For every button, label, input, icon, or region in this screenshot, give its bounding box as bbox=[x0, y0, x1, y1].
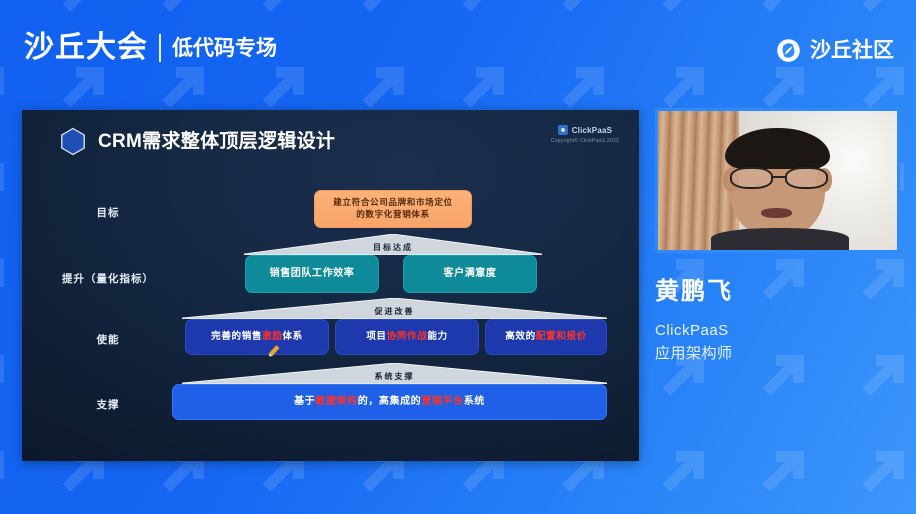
enable-box-3-highlight: 配置和报价 bbox=[536, 331, 587, 342]
clickpaas-name: ClickPaaS bbox=[572, 126, 613, 135]
presentation-stage: 沙丘大会 低代码专场 沙丘社区 CRM需求整体顶层逻辑设计 bbox=[0, 0, 916, 514]
speaker-name: 黄鹏飞 bbox=[655, 279, 905, 305]
support-box-highlight-1: 敏捷架构 bbox=[315, 396, 357, 407]
community-logo: 沙丘社区 bbox=[776, 38, 894, 63]
arrow-up-right-icon bbox=[0, 258, 6, 304]
arrow-up-right-icon bbox=[0, 162, 6, 208]
enable-box-2-post: 能力 bbox=[427, 331, 447, 342]
hexagon-icon bbox=[60, 127, 86, 156]
enable-box-2-highlight: 协同作战 bbox=[387, 331, 428, 342]
arrow-up-right-icon bbox=[0, 450, 6, 496]
support-box-pre: 基于 bbox=[294, 396, 315, 407]
support-box-mid: 的，高集成的 bbox=[358, 396, 422, 407]
slide-title-group: CRM需求整体顶层逻辑设计 bbox=[60, 127, 335, 156]
glasses-bridge bbox=[773, 176, 785, 178]
clickpaas-badge-icon bbox=[558, 125, 568, 135]
swoosh-s-icon bbox=[776, 38, 801, 63]
metric-box-2: 客户满意度 bbox=[403, 255, 537, 293]
copyright-text: Copyright© ClickPaaS 2022 bbox=[551, 138, 619, 144]
arrow-up-right-icon bbox=[0, 354, 6, 400]
arrow-up-right-icon bbox=[660, 450, 706, 496]
row-label-enable: 使能 bbox=[60, 332, 156, 347]
row-label-metric: 提升（量化指标） bbox=[44, 271, 172, 286]
enable-box-3-pre: 高效的 bbox=[505, 331, 536, 342]
event-brand: 沙丘大会 低代码专场 bbox=[24, 33, 277, 63]
brand-separator bbox=[159, 34, 161, 62]
community-label: 沙丘社区 bbox=[810, 40, 894, 61]
goal-box-line1: 建立符合公司品牌和市场定位 bbox=[333, 197, 453, 209]
glasses-icon bbox=[730, 167, 828, 189]
goal-box-line2: 的数字化营销体系 bbox=[356, 209, 430, 221]
connector-system-support: 系统支撑 bbox=[182, 363, 607, 384]
event-header: 沙丘大会 低代码专场 沙丘社区 bbox=[0, 0, 916, 100]
support-box: 基于敏捷架构的，高集成的营销平台系统 bbox=[172, 384, 607, 420]
webcam-image bbox=[658, 111, 897, 250]
page-title: CRM需求整体顶层逻辑设计 bbox=[98, 132, 335, 151]
connector-promote-improve: 促进改善 bbox=[182, 298, 607, 319]
enable-box-1: 完善的销售激励体系 bbox=[185, 319, 329, 355]
enable-box-1-highlight: 激励 bbox=[262, 331, 282, 342]
slide-canvas: CRM需求整体顶层逻辑设计 ClickPaaS Copyright© Click… bbox=[22, 110, 639, 461]
arrow-up-right-icon bbox=[760, 450, 806, 496]
clickpaas-logo: ClickPaaS Copyright© ClickPaaS 2022 bbox=[551, 125, 619, 144]
speaker-mouth bbox=[761, 208, 792, 218]
metric-box-1: 销售团队工作效率 bbox=[245, 255, 379, 293]
enable-box-3: 高效的配置和报价 bbox=[485, 319, 607, 355]
connector-goal-achieved: 目标达成 bbox=[244, 234, 542, 255]
enable-box-1-pre: 完善的销售 bbox=[211, 331, 262, 342]
support-box-highlight-2: 营销平台 bbox=[421, 396, 463, 407]
speaker-webcam-feed[interactable] bbox=[655, 108, 900, 253]
right-lens bbox=[785, 167, 828, 189]
row-label-support: 支撑 bbox=[60, 397, 156, 412]
speaker-info: 黄鹏飞 ClickPaaS 应用架构师 bbox=[655, 279, 905, 365]
brand-main-title: 沙丘大会 bbox=[24, 33, 148, 63]
brand-subtitle: 低代码专场 bbox=[172, 38, 277, 59]
connector-goal-achieved-label: 目标达成 bbox=[244, 242, 542, 253]
speaker-role: 应用架构师 bbox=[655, 343, 905, 366]
speaker-shirt bbox=[711, 228, 850, 250]
left-lens bbox=[730, 167, 773, 189]
connector-system-support-label: 系统支撑 bbox=[182, 371, 607, 382]
goal-box: 建立符合公司品牌和市场定位 的数字化营销体系 bbox=[314, 190, 472, 228]
connector-promote-improve-label: 促进改善 bbox=[182, 306, 607, 317]
arrow-up-right-icon bbox=[860, 450, 906, 496]
row-label-goal: 目标 bbox=[60, 205, 156, 220]
speaker-organization: ClickPaaS bbox=[655, 320, 905, 343]
enable-box-2-pre: 项目 bbox=[366, 331, 386, 342]
support-box-post: 系统 bbox=[464, 396, 485, 407]
enable-box-2: 项目协同作战能力 bbox=[335, 319, 479, 355]
enable-box-1-post: 体系 bbox=[282, 331, 302, 342]
